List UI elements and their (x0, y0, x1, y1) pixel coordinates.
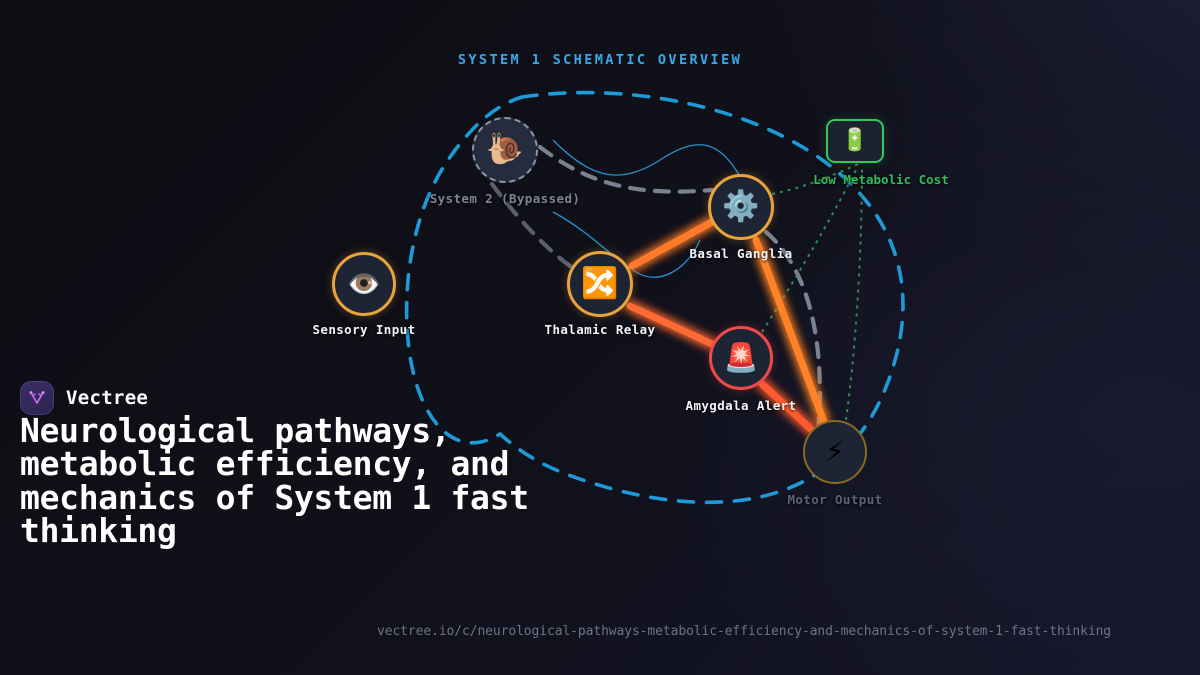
node-sensory-input[interactable]: 👁️ (332, 252, 396, 316)
eye-icon: 👁️ (347, 271, 381, 298)
node-basal-ganglia[interactable]: ⚙️ (708, 174, 774, 240)
shuffle-icon: 🔀 (581, 269, 618, 299)
low-metabolic-cost-badge[interactable]: 🔋 (826, 119, 884, 163)
brand-name: Vectree (66, 387, 148, 409)
edge-system2-basal-ganglia (540, 147, 712, 192)
brand: Vectree (20, 381, 148, 415)
edge-motor-output-metabolic (846, 168, 862, 420)
node-label-motor-output: Motor Output (787, 492, 882, 507)
node-label-amygdala-alert: Amygdala Alert (686, 398, 797, 413)
footer-url: vectree.io/c/neurological-pathways-metab… (377, 624, 1111, 639)
node-label-thalamic-relay: Thalamic Relay (545, 322, 656, 337)
snail-icon: 🐌 (486, 135, 523, 165)
node-motor-output[interactable]: ⚡ (803, 420, 867, 484)
node-label-system-2-bypassed: System 2 (Bypassed) (430, 191, 581, 206)
gear-icon: ⚙️ (722, 192, 759, 222)
siren-icon: 🚨 (724, 344, 759, 372)
battery-icon: 🔋 (841, 130, 868, 152)
node-label-sensory-input: Sensory Input (312, 322, 415, 337)
node-system-2-bypassed[interactable]: 🐌 (472, 117, 538, 183)
schematic-graph (0, 0, 1200, 675)
share-card-canvas: SYSTEM 1 SCHEMATIC OVERVIEW 👁️ Sensory I… (0, 0, 1200, 675)
schematic-title: SYSTEM 1 SCHEMATIC OVERVIEW (0, 52, 1200, 68)
vectree-logo-icon (20, 381, 54, 415)
node-thalamic-relay[interactable]: 🔀 (567, 251, 633, 317)
node-label-basal-ganglia: Basal Ganglia (689, 246, 792, 261)
headline: Neurological pathways, metabolic efficie… (20, 414, 540, 547)
lightning-bolt-icon: ⚡ (825, 438, 845, 466)
low-metabolic-cost-label: Low Metabolic Cost (813, 172, 948, 187)
node-amygdala-alert[interactable]: 🚨 (709, 326, 773, 390)
